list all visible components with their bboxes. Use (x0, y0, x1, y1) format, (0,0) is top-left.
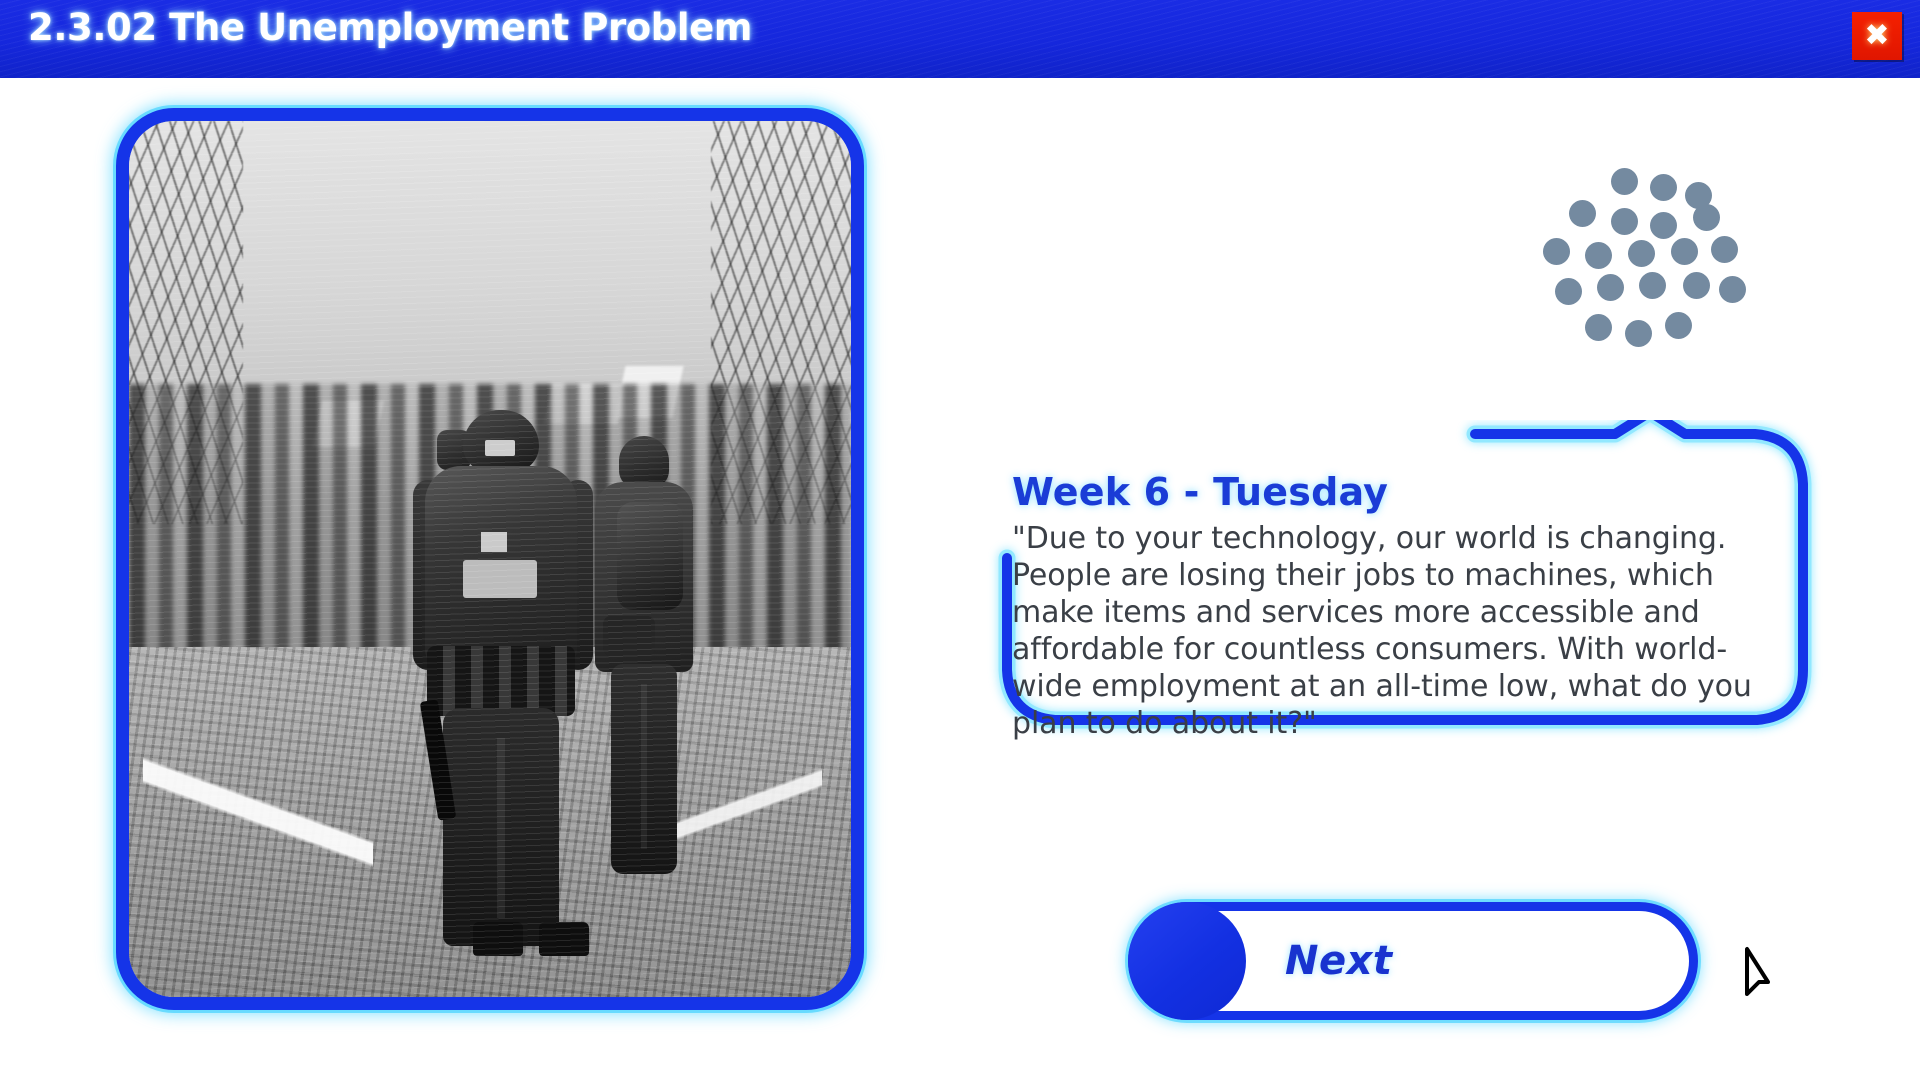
app-window: 2.3.02 The Unemployment Problem ✖ (0, 0, 1920, 1080)
photo-officer-figure (411, 410, 591, 962)
title-bar: 2.3.02 The Unemployment Problem ✖ (0, 0, 1920, 78)
officer-boot-left (473, 922, 523, 956)
decoration-dot (1625, 320, 1652, 347)
officer-badge (481, 532, 507, 552)
next-button-label: Next (1285, 938, 1393, 984)
scene-photo (129, 121, 851, 997)
decoration-dot (1555, 278, 1582, 305)
next-button[interactable]: Next (1128, 902, 1698, 1020)
dialogue-body-text: "Due to your technology, our world is ch… (1012, 520, 1752, 742)
decoration-dot (1683, 272, 1710, 299)
page-title: 2.3.02 The Unemployment Problem (28, 6, 752, 49)
officer-utility-belt (427, 646, 575, 716)
decoration-dot (1611, 168, 1638, 195)
photo-pedestrian-figure (577, 436, 707, 944)
decoration-dot (1543, 238, 1570, 265)
photo-road-line-left (143, 664, 373, 964)
decoration-dot (1650, 212, 1677, 239)
close-icon: ✖ (1864, 21, 1889, 51)
decoration-dot (1585, 314, 1612, 341)
decoration-dot (1693, 204, 1720, 231)
mouse-pointer (1742, 946, 1788, 1004)
pedestrian-head (619, 436, 669, 488)
dot-cluster-decoration (1533, 168, 1743, 368)
close-button[interactable]: ✖ (1852, 12, 1902, 60)
pedestrian-side-bag (603, 616, 655, 656)
pedestrian-legs (611, 664, 677, 874)
officer-helmet (463, 410, 539, 472)
decoration-dot (1611, 208, 1638, 235)
decoration-dot (1671, 238, 1698, 265)
scene-photo-frame (116, 108, 864, 1010)
officer-back-patch (463, 560, 537, 598)
dialogue-heading: Week 6 - Tuesday (1012, 470, 1388, 514)
decoration-dot (1711, 236, 1738, 263)
decoration-dot (1597, 274, 1624, 301)
decoration-dot (1665, 312, 1692, 339)
decoration-dot (1585, 242, 1612, 269)
next-button-knob (1128, 902, 1246, 1020)
decoration-dot (1650, 174, 1677, 201)
decoration-dot (1639, 272, 1666, 299)
pedestrian-backpack (617, 502, 683, 610)
decoration-dot (1569, 200, 1596, 227)
decoration-dot (1628, 240, 1655, 267)
officer-legs (443, 708, 559, 946)
decoration-dot (1719, 276, 1746, 303)
